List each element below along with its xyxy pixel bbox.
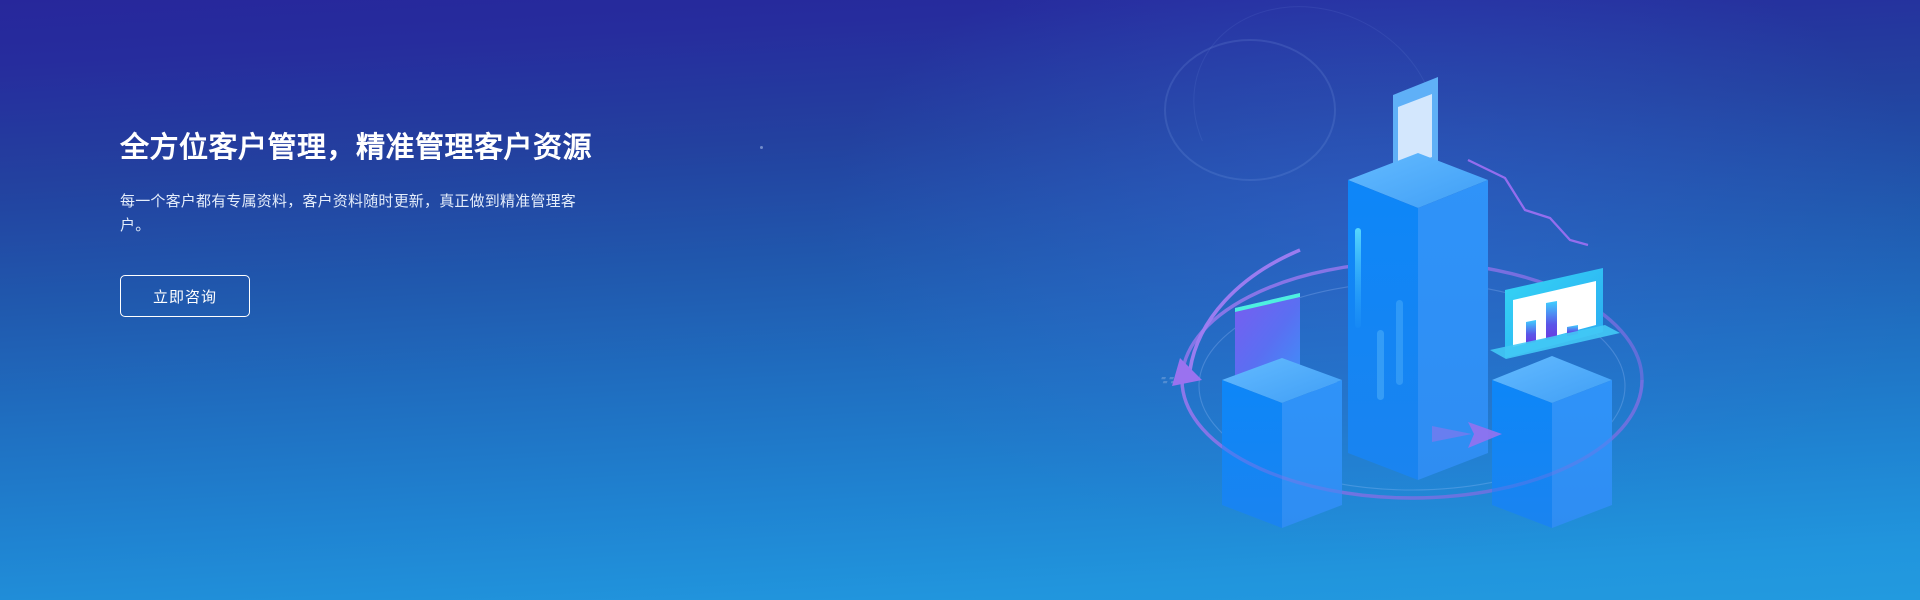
- background-speck-decoration: [760, 146, 763, 149]
- pillar-right: [1490, 268, 1620, 528]
- pillar-center: [1348, 77, 1488, 480]
- hero-illustration: [1150, 50, 1670, 570]
- arrow-down-left-icon: [1172, 358, 1202, 386]
- hero-banner: 全方位客户管理，精准管理客户资源 每一个客户都有专属资料，客户资料随时更新，真正…: [0, 0, 1920, 600]
- page-title: 全方位客户管理，精准管理客户资源: [120, 130, 740, 166]
- consult-now-button[interactable]: 立即咨询: [120, 275, 250, 317]
- hero-subtitle: 每一个客户都有专属资料，客户资料随时更新，真正做到精准管理客户。: [120, 190, 600, 238]
- halo-arc: [1165, 40, 1335, 180]
- hero-copy-block: 全方位客户管理，精准管理客户资源 每一个客户都有专属资料，客户资料随时更新，真正…: [120, 130, 740, 317]
- monitor-chart-icon: [1490, 268, 1620, 359]
